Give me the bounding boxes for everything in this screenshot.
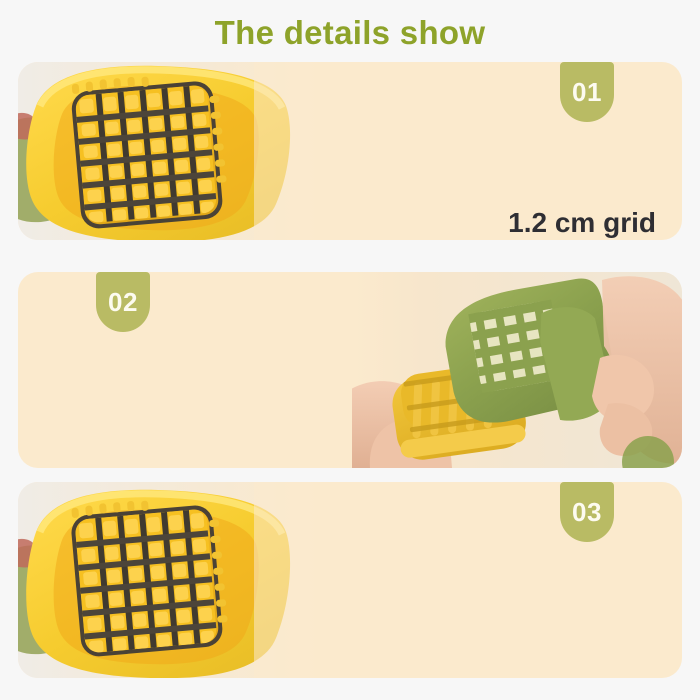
detail-panel-2: 02 Detachable base Convenient cleaning xyxy=(18,272,682,468)
product-photo-anti-slip xyxy=(18,482,318,678)
detail-panel-1: 01 1.2 cm grid Dicing homogeneous good-l… xyxy=(18,62,682,240)
page-title: The details show xyxy=(0,14,700,52)
panel-1-text: 1.2 cm grid Dicing homogeneous good-look… xyxy=(379,207,656,240)
panel-badge-02: 02 xyxy=(96,272,150,332)
panel-badge-01: 01 xyxy=(560,62,614,122)
panel-1-heading: 1.2 cm grid xyxy=(379,207,656,239)
product-photo-detachable-base xyxy=(352,272,682,468)
product-photo-grid-blade xyxy=(18,62,318,240)
detail-panel-3: 03 Silicone anti-slip pads The chopping … xyxy=(18,482,682,678)
panel-badge-03: 03 xyxy=(560,482,614,542)
infographic-page: The details show xyxy=(0,0,700,700)
